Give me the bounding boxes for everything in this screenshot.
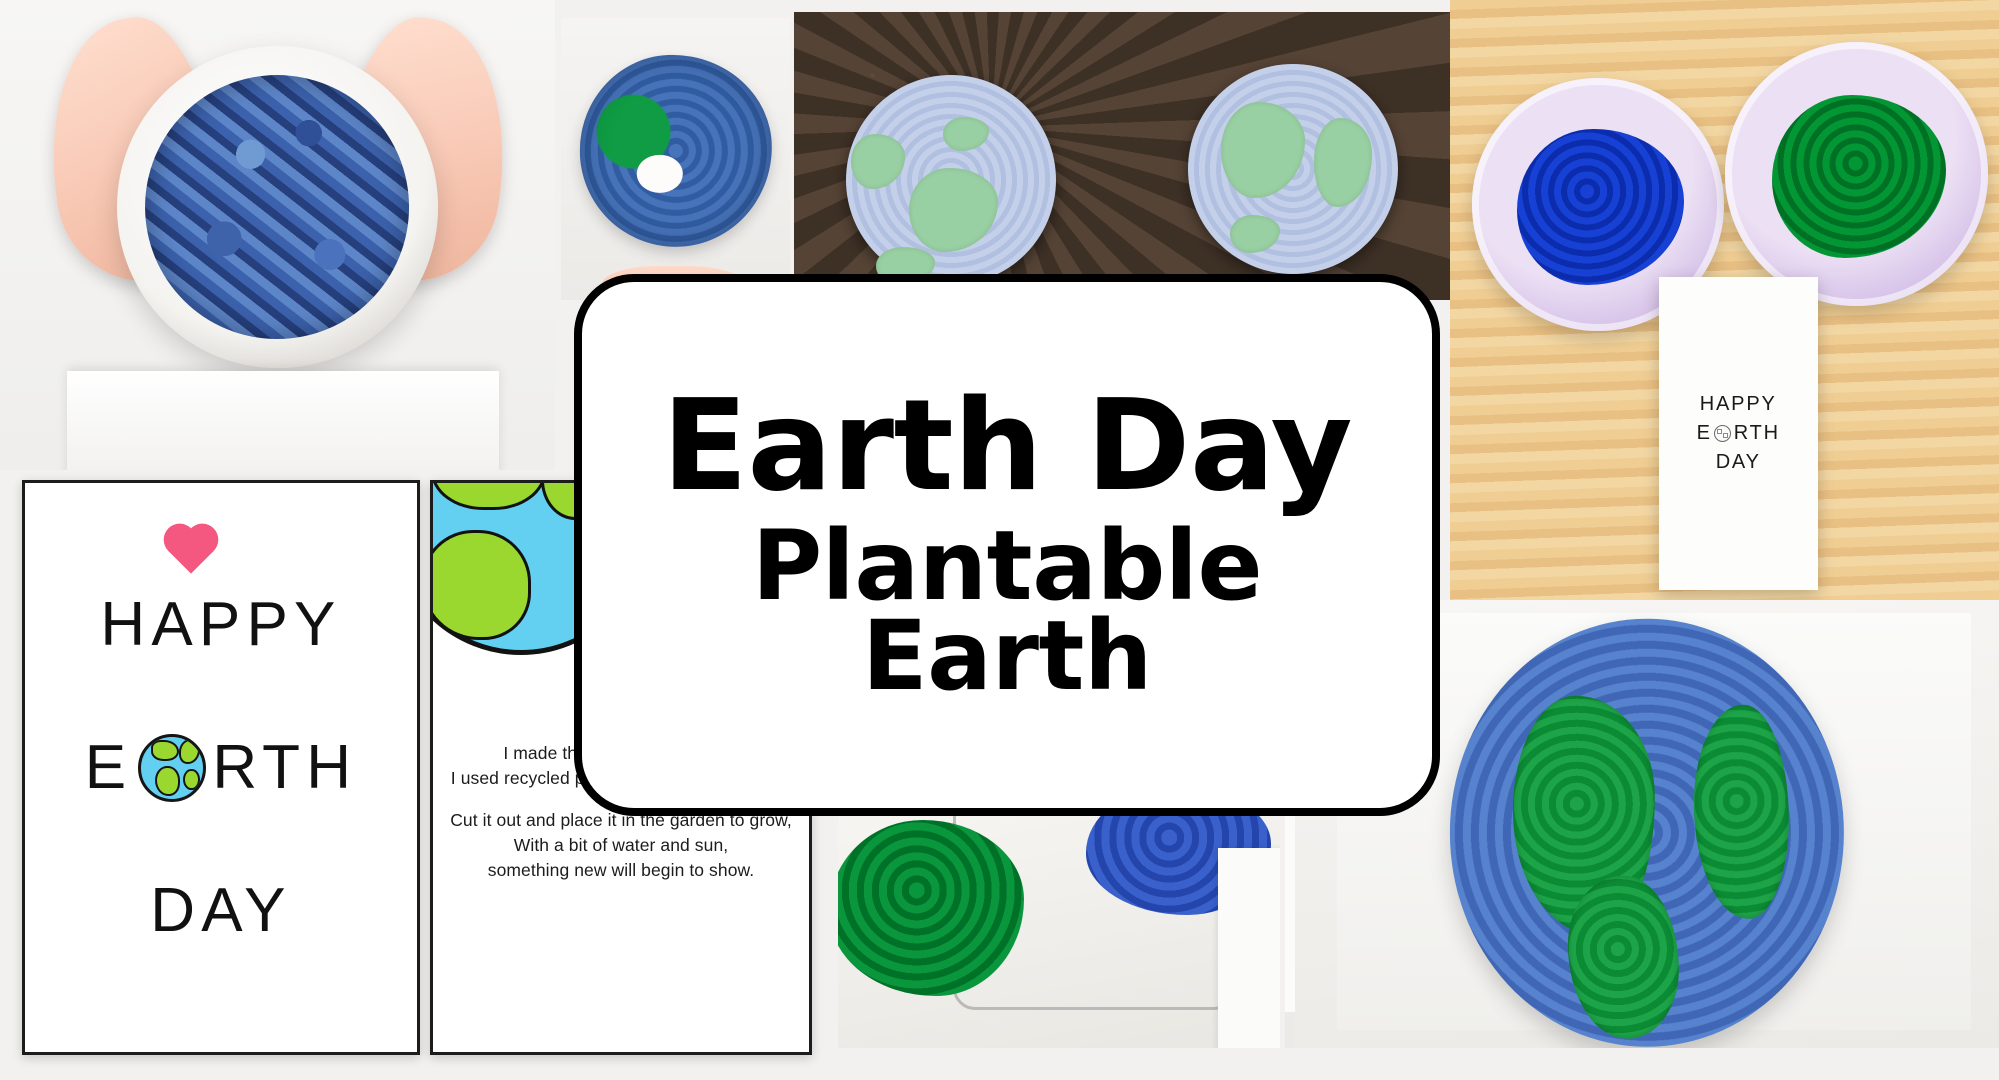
land-mass bbox=[851, 134, 906, 189]
sign-line-day: DAY bbox=[1716, 451, 1761, 474]
title-overlay-card: Earth Day Plantable Earth bbox=[574, 274, 1440, 816]
poem-line-5: something new will begin to show. bbox=[488, 860, 755, 880]
card-line-happy: HAPPY bbox=[100, 589, 341, 660]
paper-earth-left bbox=[846, 75, 1056, 285]
land-mass bbox=[909, 168, 997, 252]
poem-line-4: With a bit of water and sun, bbox=[514, 835, 729, 855]
plantable-paper-earth bbox=[1450, 619, 1844, 1048]
photo-green-and-blue-pulp-on-tray bbox=[838, 810, 1280, 1048]
photo-blue-pulp-earth-in-hand bbox=[561, 18, 790, 300]
handwritten-earth-day-sign: HAPPY E RTH DAY bbox=[1659, 277, 1818, 590]
letters-rth: RTH bbox=[212, 732, 357, 803]
blue-pulp-earth bbox=[579, 54, 771, 246]
title-line-earth: Earth bbox=[862, 608, 1152, 706]
sign-line-earth: E RTH bbox=[1697, 422, 1780, 445]
paper-sheet bbox=[67, 371, 500, 470]
photo-two-earths-on-soil bbox=[794, 12, 1450, 300]
printable-card-happy-earth-day: HAPPY E RTH DAY bbox=[22, 480, 420, 1055]
land-mass bbox=[1221, 102, 1305, 199]
land-mass bbox=[943, 117, 989, 151]
earth-globe-icon bbox=[1714, 425, 1731, 442]
blue-paper-pulp bbox=[1517, 129, 1684, 286]
title-line-earth-day: Earth Day bbox=[662, 384, 1352, 507]
green-pulp-disc bbox=[838, 820, 1024, 996]
land-mass-bottom bbox=[1568, 876, 1678, 1039]
bowl-with-blue-paper bbox=[117, 46, 439, 368]
heart-icon bbox=[168, 528, 213, 573]
photo-purple-plates-with-pulp: HAPPY E RTH DAY bbox=[1450, 0, 1999, 602]
letter-e: E bbox=[85, 732, 133, 803]
sign-line-happy: HAPPY bbox=[1700, 393, 1777, 416]
instruction-sheet bbox=[1218, 848, 1280, 1048]
paper-earth-right bbox=[1188, 64, 1398, 274]
green-paper-pulp bbox=[1772, 95, 1946, 258]
land-mass bbox=[1230, 215, 1280, 253]
land-mass-right bbox=[1694, 704, 1789, 918]
photo-hands-tearing-blue-paper bbox=[0, 0, 555, 470]
land-mass bbox=[1314, 118, 1373, 206]
card-line-day: DAY bbox=[150, 875, 291, 946]
card-line-earth: E RTH bbox=[85, 732, 357, 803]
plate-green-pulp bbox=[1725, 42, 1989, 306]
earth-globe-icon bbox=[138, 734, 206, 802]
